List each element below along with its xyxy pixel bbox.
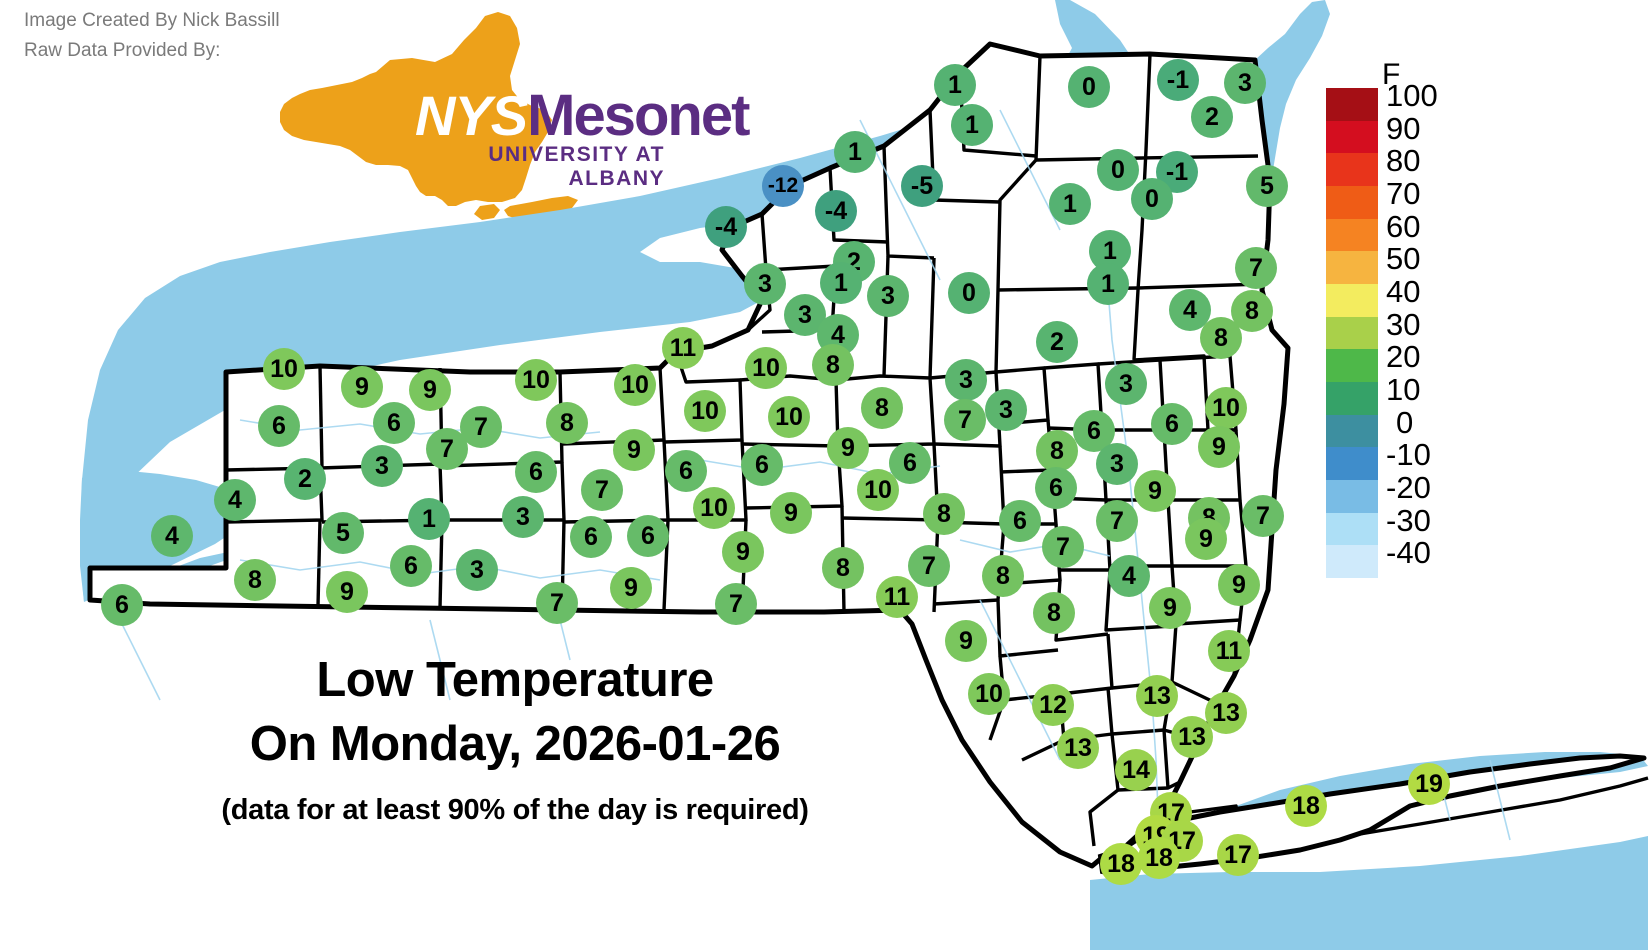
colorbar-tick-label: -20 (1386, 470, 1431, 506)
colorbar-band (1326, 415, 1378, 448)
station-marker: 3 (502, 496, 544, 538)
station-marker: -12 (762, 165, 804, 207)
title-line-1: Low Temperature (95, 648, 935, 712)
station-marker: -1 (1157, 59, 1199, 101)
station-marker: 2 (284, 458, 326, 500)
station-marker: 6 (627, 515, 669, 557)
station-marker: 11 (1208, 630, 1250, 672)
station-marker: 13 (1136, 675, 1178, 717)
station-marker: 1 (951, 104, 993, 146)
station-marker: 8 (1033, 592, 1075, 634)
colorbar-tick-label: 70 (1386, 176, 1420, 212)
station-marker: 6 (373, 402, 415, 444)
station-marker: 3 (1096, 443, 1138, 485)
station-marker: 1 (1049, 183, 1091, 225)
colorbar-tick-label: 30 (1386, 307, 1420, 343)
station-marker: 10 (515, 359, 557, 401)
station-marker: 6 (999, 500, 1041, 542)
title-note: (data for at least 90% of the day is req… (95, 794, 935, 827)
station-marker: 7 (908, 545, 950, 587)
map-title-block: Low Temperature On Monday, 2026-01-26 (d… (95, 648, 935, 827)
station-marker: 11 (876, 576, 918, 618)
colorbar-tick-label: -30 (1386, 503, 1431, 539)
colorbar-band (1326, 317, 1378, 350)
colorbar-tick-label: 80 (1386, 143, 1420, 179)
station-marker: 9 (1185, 518, 1227, 560)
station-marker: -4 (815, 190, 857, 232)
station-marker: 12 (1032, 684, 1074, 726)
station-marker: 3 (456, 549, 498, 591)
station-marker: 3 (985, 389, 1027, 431)
station-marker: 8 (1036, 430, 1078, 472)
station-marker: 7 (581, 469, 623, 511)
station-marker: 10 (968, 673, 1010, 715)
station-marker: 7 (426, 428, 468, 470)
station-marker: 8 (812, 344, 854, 386)
colorbar (1326, 88, 1378, 578)
station-marker: 17 (1217, 834, 1259, 876)
station-marker: 6 (101, 584, 143, 626)
station-marker: 1 (820, 262, 862, 304)
station-marker: -5 (901, 165, 943, 207)
station-marker: 3 (867, 275, 909, 317)
station-marker: 10 (614, 364, 656, 406)
station-marker: 8 (234, 559, 276, 601)
station-marker: 3 (744, 263, 786, 305)
colorbar-tick-label: 50 (1386, 241, 1420, 277)
station-marker: 0 (1097, 149, 1139, 191)
station-marker: 9 (1149, 587, 1191, 629)
station-marker: 9 (341, 366, 383, 408)
colorbar-band (1326, 382, 1378, 415)
colorbar-band (1326, 284, 1378, 317)
station-marker: 19 (1408, 763, 1450, 805)
station-marker: 6 (570, 516, 612, 558)
station-marker: 10 (1205, 387, 1247, 429)
colorbar-tick-label: -40 (1386, 535, 1431, 571)
station-marker: 9 (613, 429, 655, 471)
station-marker: 9 (770, 492, 812, 534)
colorbar-band (1326, 349, 1378, 382)
station-marker: 7 (1242, 495, 1284, 537)
station-marker: 11 (662, 327, 704, 369)
station-marker: 3 (1224, 62, 1266, 104)
colorbar-band (1326, 121, 1378, 154)
station-marker: 9 (1218, 564, 1260, 606)
colorbar-band (1326, 513, 1378, 546)
colorbar-band (1326, 153, 1378, 186)
station-marker: 3 (945, 359, 987, 401)
colorbar-tick-label: 100 (1386, 78, 1438, 114)
station-marker: 6 (258, 405, 300, 447)
station-marker: 9 (722, 531, 764, 573)
station-marker: 4 (214, 479, 256, 521)
station-marker: 6 (1151, 403, 1193, 445)
station-marker: 1 (834, 131, 876, 173)
station-marker: 18 (1100, 843, 1142, 885)
colorbar-tick-label: 0 (1396, 405, 1413, 441)
station-marker: 13 (1057, 727, 1099, 769)
station-marker: 3 (361, 445, 403, 487)
weather-map-page: Image Created By Nick Bassill Raw Data P… (0, 0, 1650, 950)
station-marker: 0 (1131, 178, 1173, 220)
station-marker: 9 (326, 571, 368, 613)
station-marker: 10 (693, 487, 735, 529)
colorbar-band (1326, 480, 1378, 513)
station-marker: 8 (982, 555, 1024, 597)
station-marker: 1 (1087, 263, 1129, 305)
station-marker: 6 (1035, 467, 1077, 509)
station-marker: 5 (1246, 165, 1288, 207)
station-marker: 9 (945, 620, 987, 662)
station-marker: 8 (546, 402, 588, 444)
station-marker: 6 (665, 450, 707, 492)
station-marker: 8 (822, 547, 864, 589)
station-marker: 9 (1198, 426, 1240, 468)
station-marker: 7 (944, 399, 986, 441)
station-marker: 1 (408, 498, 450, 540)
colorbar-band (1326, 219, 1378, 252)
station-marker: 4 (1108, 555, 1150, 597)
station-marker: 7 (1096, 500, 1138, 542)
station-marker: 14 (1115, 749, 1157, 791)
station-marker: 5 (322, 512, 364, 554)
station-marker: 9 (610, 567, 652, 609)
title-line-2: On Monday, 2026-01-26 (95, 712, 935, 776)
station-marker: 10 (745, 347, 787, 389)
station-marker: 10 (768, 396, 810, 438)
station-marker: 2 (1036, 321, 1078, 363)
station-marker: 18 (1138, 837, 1180, 879)
station-marker: 7 (1042, 526, 1084, 568)
station-marker: 8 (861, 387, 903, 429)
station-marker: -4 (705, 206, 747, 248)
station-marker: 1 (934, 64, 976, 106)
colorbar-tick-label: 10 (1386, 372, 1420, 408)
station-marker: 0 (948, 272, 990, 314)
station-marker: 9 (827, 427, 869, 469)
station-marker: 7 (1235, 247, 1277, 289)
station-marker: 2 (1191, 96, 1233, 138)
colorbar-band (1326, 186, 1378, 219)
station-marker: 13 (1171, 716, 1213, 758)
station-marker: 10 (857, 469, 899, 511)
station-marker: 9 (1134, 470, 1176, 512)
station-marker: 6 (515, 451, 557, 493)
station-marker: 3 (1105, 363, 1147, 405)
station-marker: 6 (390, 545, 432, 587)
colorbar-tick-label: 60 (1386, 209, 1420, 245)
station-marker: 9 (409, 369, 451, 411)
colorbar-band (1326, 447, 1378, 480)
station-marker: 7 (715, 583, 757, 625)
station-marker: 7 (536, 582, 578, 624)
station-marker: 10 (684, 390, 726, 432)
colorbar-band (1326, 88, 1378, 121)
colorbar-tick-label: 20 (1386, 339, 1420, 375)
station-marker: 4 (151, 515, 193, 557)
station-marker: 8 (1231, 290, 1273, 332)
colorbar-tick-label: -10 (1386, 437, 1431, 473)
station-marker: 10 (263, 348, 305, 390)
station-marker: 0 (1068, 66, 1110, 108)
colorbar-band (1326, 251, 1378, 284)
colorbar-tick-label: 90 (1386, 111, 1420, 147)
station-marker: 8 (923, 493, 965, 535)
colorbar-band (1326, 545, 1378, 578)
station-marker: 6 (741, 444, 783, 486)
station-marker: 13 (1205, 692, 1247, 734)
station-marker: 18 (1285, 785, 1327, 827)
colorbar-tick-label: 40 (1386, 274, 1420, 310)
